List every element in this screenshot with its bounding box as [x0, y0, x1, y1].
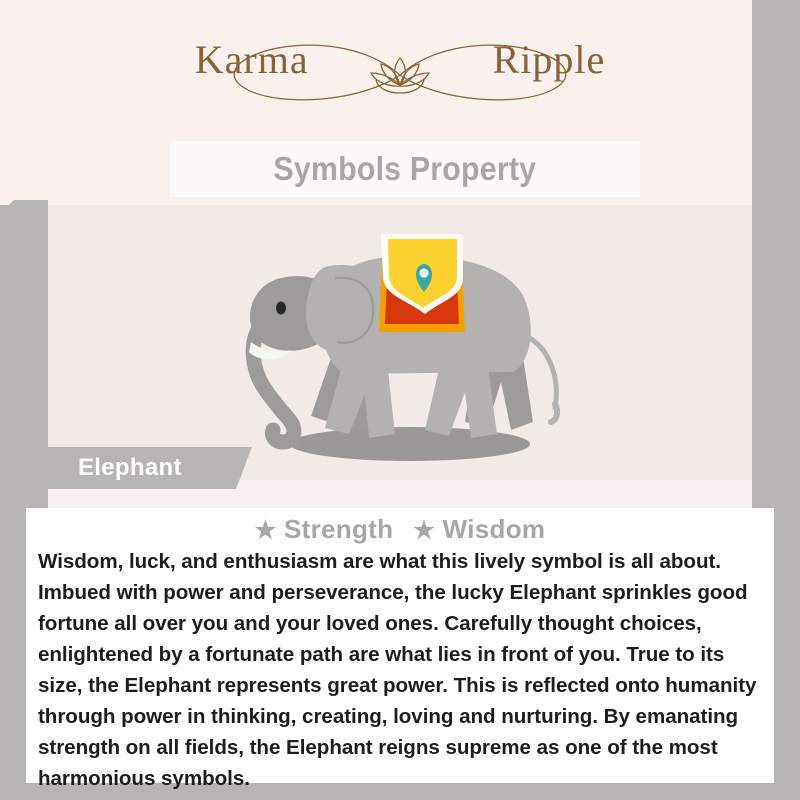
trait-list: ★ Strength★ Wisdom [26, 508, 774, 545]
symbol-description: Wisdom, luck, and enthusiasm are what th… [38, 546, 762, 794]
trait-strength-label: Strength [284, 514, 393, 544]
star-icon: ★ [413, 517, 435, 544]
trait-strength: ★ Strength [255, 514, 394, 544]
symbol-card: KarmaRipple Symbols Property [0, 0, 800, 800]
trait-wisdom: ★ Wisdom [413, 514, 545, 544]
symbol-name-banner: Elephant [0, 447, 252, 489]
brand-logo [0, 34, 800, 116]
page-title: Symbols Property [274, 150, 537, 188]
star-icon: ★ [255, 517, 277, 544]
description-panel: ★ Strength★ Wisdom Wisdom, luck, and ent… [26, 508, 774, 783]
elephant-illustration [225, 222, 585, 467]
trait-wisdom-label: Wisdom [443, 514, 546, 544]
symbol-name: Elephant [78, 454, 182, 482]
page-title-band: Symbols Property [170, 141, 640, 197]
